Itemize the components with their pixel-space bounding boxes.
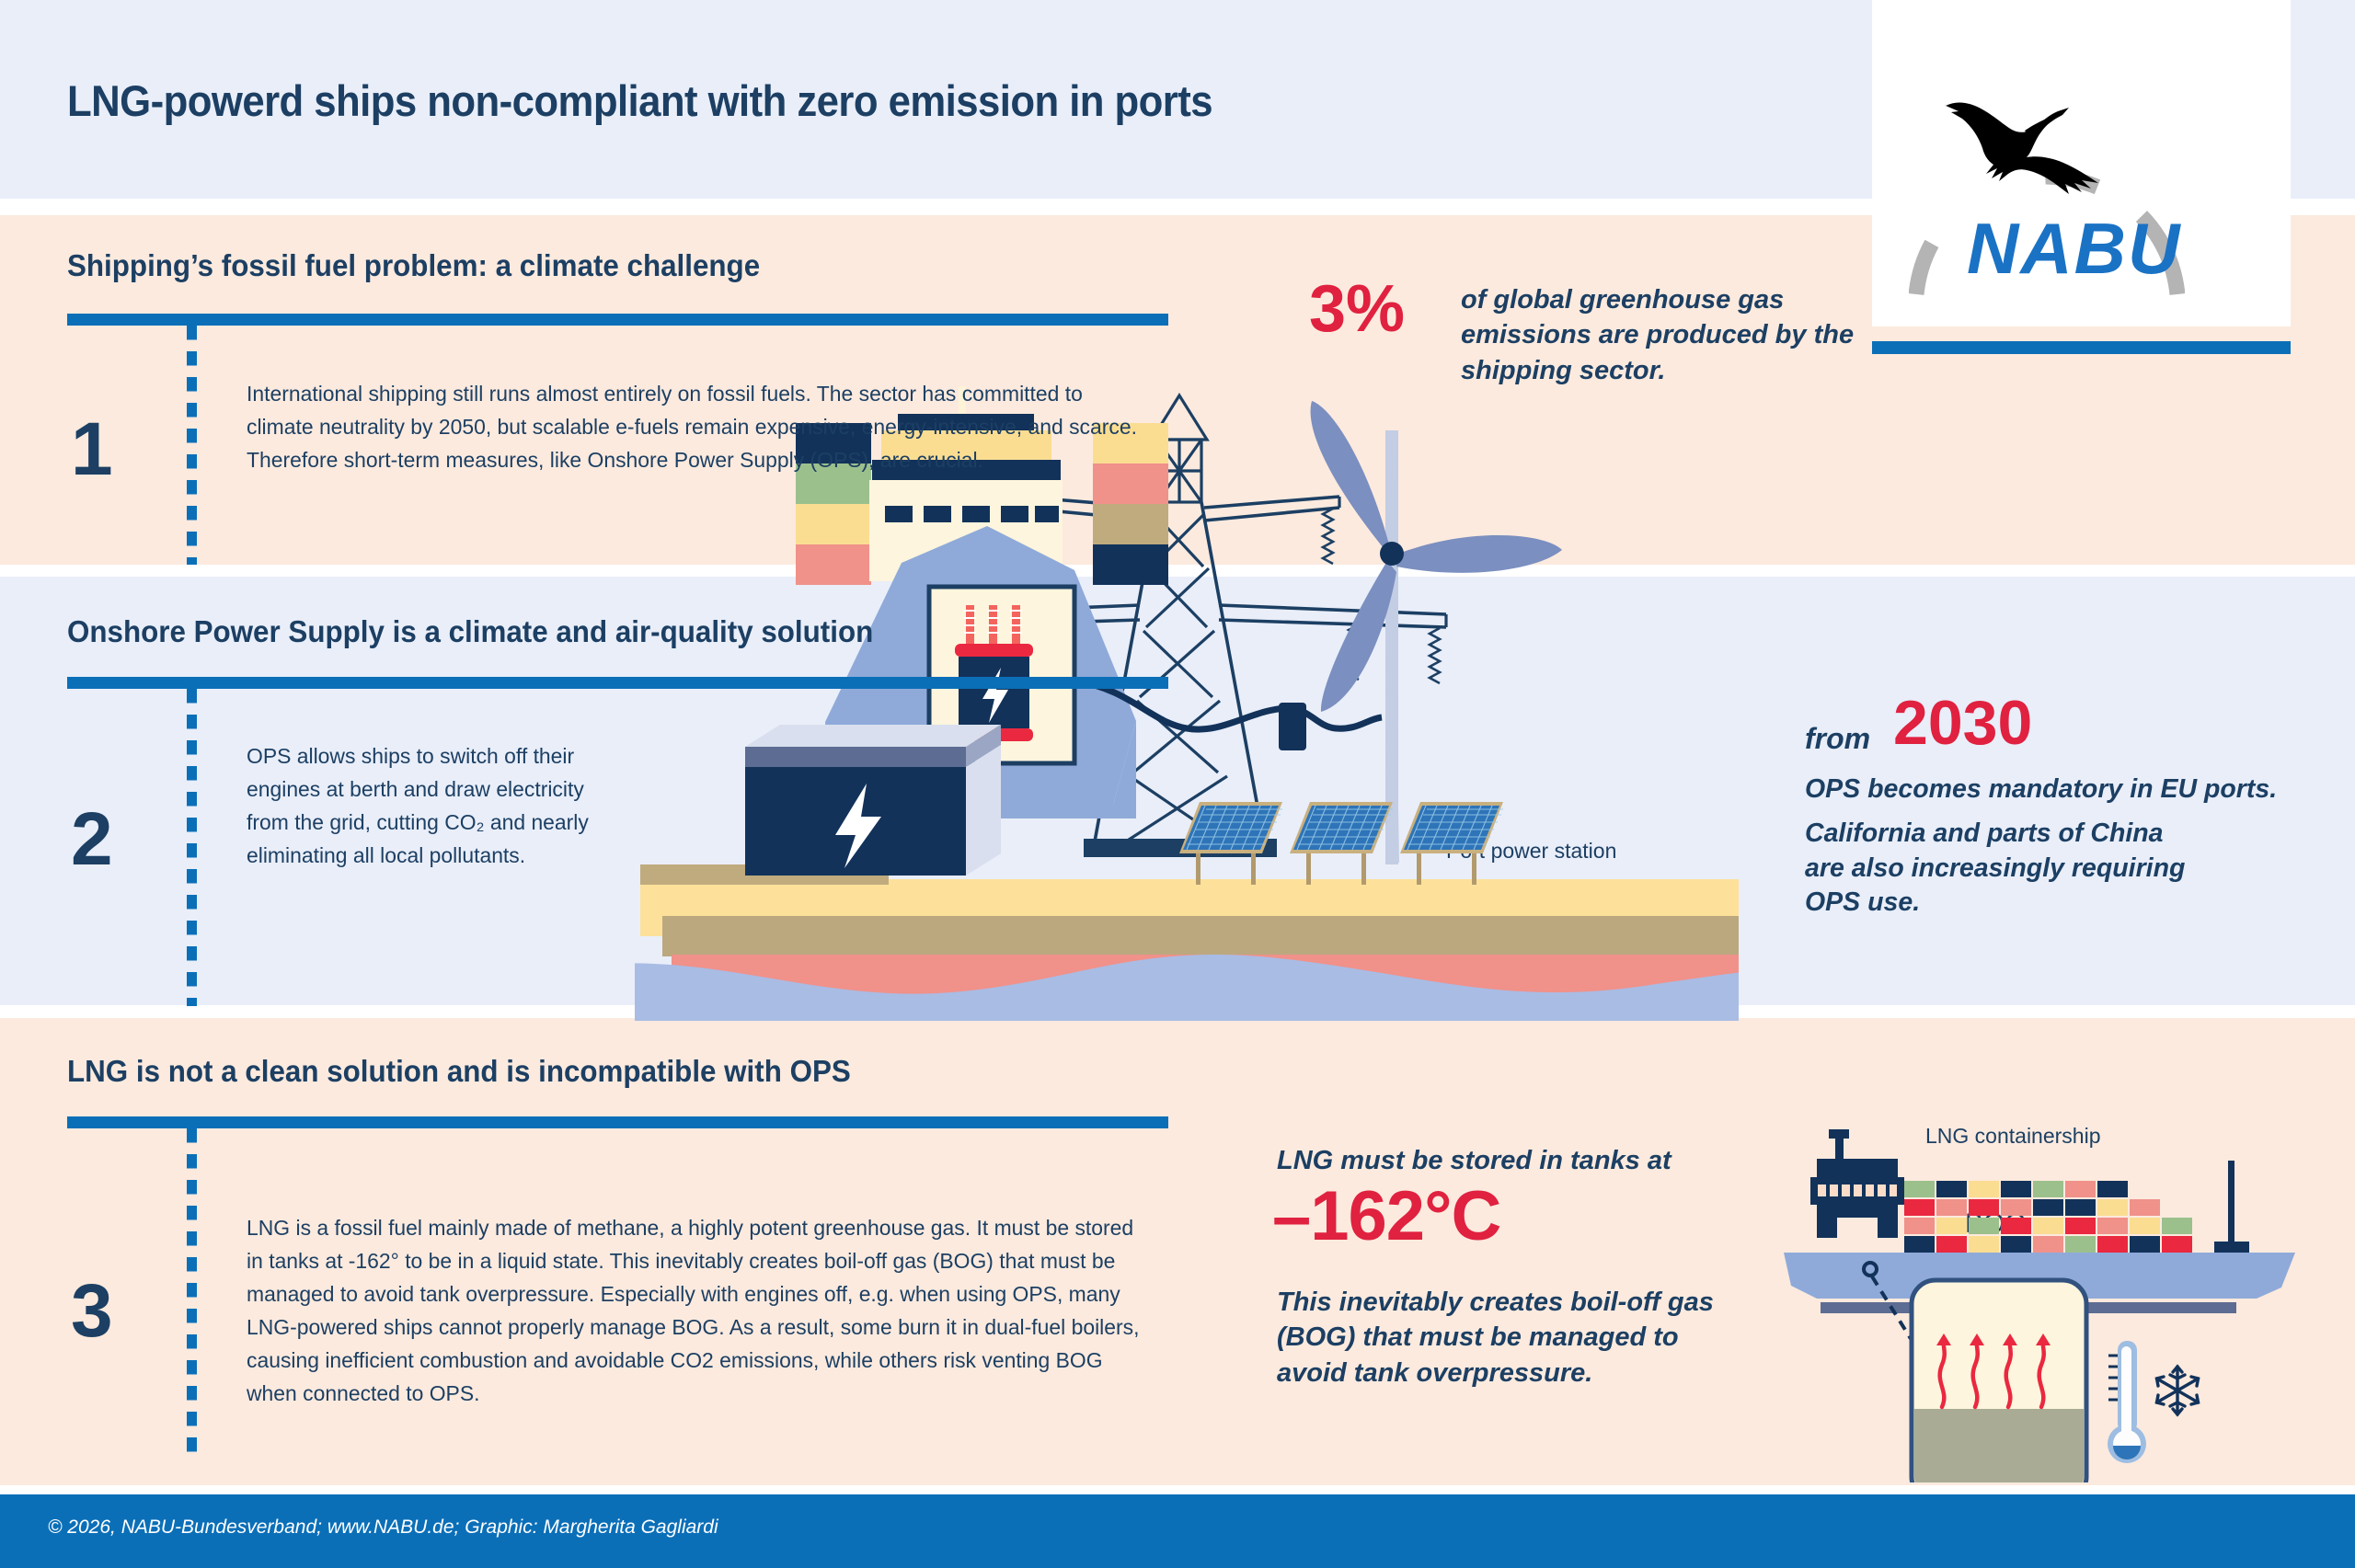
lng-tank	[1912, 1280, 2086, 1482]
bollard-icon	[1279, 703, 1306, 750]
lng-containership-illustration	[1780, 1115, 2332, 1482]
stat-year-value: 2030	[1893, 692, 2032, 754]
stat-temp-text: This inevitably creates boil-off gas (BO…	[1277, 1285, 1746, 1391]
section-3-number: 3	[71, 1274, 113, 1349]
infographic-root: Port power station	[0, 0, 2355, 1568]
section-2-title: Onshore Power Supply is a climate and ai…	[67, 614, 873, 649]
thermometer-icon	[2108, 1341, 2146, 1463]
section-2-rule	[67, 677, 1168, 689]
page-title: LNG-powerd ships non-compliant with zero…	[67, 75, 1212, 126]
solar-panels-icon	[1179, 802, 1503, 885]
stat-temp-lead: LNG must be stored in tanks at	[1277, 1143, 1709, 1178]
section-2-dashed-connector	[187, 689, 197, 1006]
logo-wordmark: NABU	[1967, 207, 2181, 291]
stat-emission-share-value: 3%	[1309, 276, 1405, 342]
stat-temp-value: –162°C	[1272, 1182, 1500, 1252]
ops-plug-icon	[955, 605, 1033, 741]
snowflake-icon	[2157, 1367, 2199, 1414]
footer-credit: © 2026, NABU-Bundesverband; www.NABU.de;…	[48, 1516, 718, 1539]
section-1-rule	[67, 314, 1168, 326]
stat-year-prefix: from	[1805, 722, 1870, 756]
section-2-body: OPS allows ships to switch off their eng…	[247, 740, 596, 873]
footer-bar: © 2026, NABU-Bundesverband; www.NABU.de;…	[0, 1494, 2355, 1568]
section-1-dashed-connector	[187, 326, 197, 565]
battery-icon	[745, 725, 1001, 876]
section-1-title: Shipping’s fossil fuel problem: a climat…	[67, 248, 760, 283]
section-3-title: LNG is not a clean solution and is incom…	[67, 1054, 851, 1089]
section-2-number: 2	[71, 802, 113, 877]
logo-underline	[1872, 341, 2291, 354]
stat-year-text-1: OPS becomes mandatory in EU ports.	[1805, 773, 2320, 807]
section-1-body: International shipping still runs almost…	[247, 378, 1153, 477]
wind-turbine-icon	[1311, 401, 1562, 864]
stat-emission-share-text: of global greenhouse gas emissions are p…	[1461, 282, 1856, 388]
section-3-body: LNG is a fossil fuel mainly made of meth…	[247, 1212, 1148, 1411]
section-3-dashed-connector	[187, 1128, 197, 1459]
stork-icon	[1935, 87, 2119, 198]
section-1-number: 1	[71, 412, 113, 487]
ship-bridge	[1810, 1129, 1904, 1238]
nabu-logo[interactable]: NABU	[1872, 0, 2291, 326]
section-3-rule	[67, 1116, 1168, 1128]
stat-year-text-2: California and parts of China are also i…	[1805, 817, 2200, 921]
port-scene-illustration	[635, 386, 1739, 1021]
container-rows	[1904, 1181, 2192, 1253]
